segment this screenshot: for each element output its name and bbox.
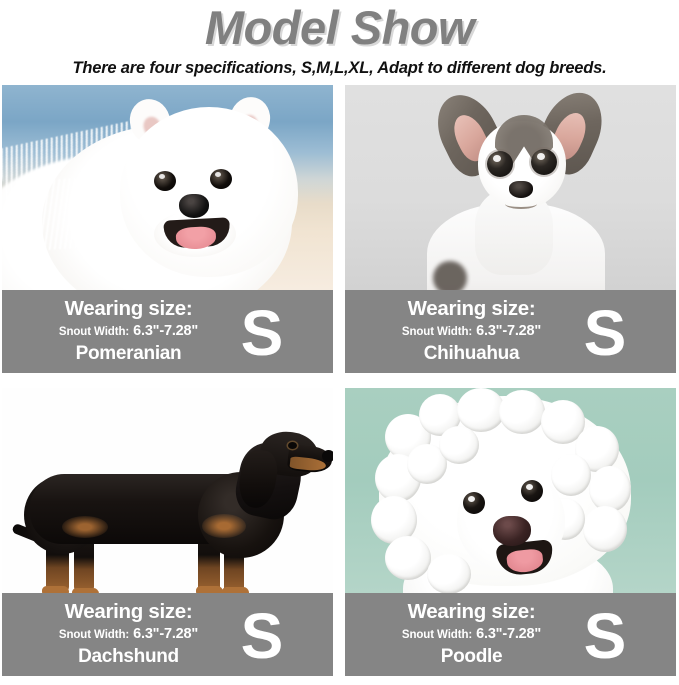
page-header: Model Show There are four specifications… <box>0 0 679 78</box>
snout-width-value: 6.3"-7.28" <box>476 323 541 339</box>
poodle-photo <box>345 388 676 593</box>
size-letter: S <box>227 597 297 675</box>
dog-eye-left <box>288 442 297 449</box>
size-letter: S <box>570 294 640 372</box>
page-subtitle: There are four specifications, S,M,L,XL,… <box>0 58 679 78</box>
snout-width-row: Snout Width:6.3"-7.28" <box>345 624 598 645</box>
size-letter: S <box>227 294 297 372</box>
snout-width-row: Snout Width:6.3"-7.28" <box>2 321 255 342</box>
breed-name: Dachshund <box>2 645 255 669</box>
dog-nose <box>179 194 209 218</box>
wearing-size-label: Wearing size: <box>2 290 255 321</box>
chihuahua-photo <box>345 85 676 290</box>
snout-width-value: 6.3"-7.28" <box>476 626 541 642</box>
snout-width-label: Snout Width: <box>59 629 129 641</box>
dog-eye-right <box>521 480 543 502</box>
wearing-size-label: Wearing size: <box>2 593 255 624</box>
dog-nose <box>509 181 533 198</box>
dog-eye-left <box>154 171 176 191</box>
pomeranian-photo <box>2 85 333 290</box>
snout-width-label: Snout Width: <box>59 326 129 338</box>
breed-name: Chihuahua <box>345 342 598 366</box>
size-label-band: Wearing size: Snout Width:6.3"-7.28" Pom… <box>2 290 333 373</box>
breed-name: Poodle <box>345 645 598 669</box>
wearing-size-label: Wearing size: <box>345 290 598 321</box>
dog-eye-left <box>487 151 513 177</box>
breed-card-dachshund[interactable]: Wearing size: Snout Width:6.3"-7.28" Dac… <box>2 388 333 676</box>
dog-nose <box>322 450 333 462</box>
snout-width-value: 6.3"-7.28" <box>133 323 198 339</box>
size-letter: S <box>570 597 640 675</box>
size-label-band: Wearing size: Snout Width:6.3"-7.28" Chi… <box>345 290 676 373</box>
size-label-band: Wearing size: Snout Width:6.3"-7.28" Dac… <box>2 593 333 676</box>
snout-width-value: 6.3"-7.28" <box>133 626 198 642</box>
snout-width-row: Snout Width:6.3"-7.28" <box>345 321 598 342</box>
dog-nose <box>493 516 531 546</box>
wearing-size-label: Wearing size: <box>345 593 598 624</box>
breed-name: Pomeranian <box>2 342 255 366</box>
size-label-band: Wearing size: Snout Width:6.3"-7.28" Poo… <box>345 593 676 676</box>
breed-card-pomeranian[interactable]: Wearing size: Snout Width:6.3"-7.28" Pom… <box>2 85 333 373</box>
breed-card-poodle[interactable]: Wearing size: Snout Width:6.3"-7.28" Poo… <box>345 388 676 676</box>
snout-width-label: Snout Width: <box>402 629 472 641</box>
snout-width-row: Snout Width:6.3"-7.28" <box>2 624 255 645</box>
breed-card-grid: Wearing size: Snout Width:6.3"-7.28" Pom… <box>0 85 679 685</box>
dachshund-photo <box>2 388 333 593</box>
dog-eye-right <box>531 149 557 175</box>
dog-eye-right <box>210 169 232 189</box>
breed-card-chihuahua[interactable]: Wearing size: Snout Width:6.3"-7.28" Chi… <box>345 85 676 373</box>
page-title: Model Show <box>0 2 679 54</box>
dog-eye-left <box>463 492 485 514</box>
snout-width-label: Snout Width: <box>402 326 472 338</box>
